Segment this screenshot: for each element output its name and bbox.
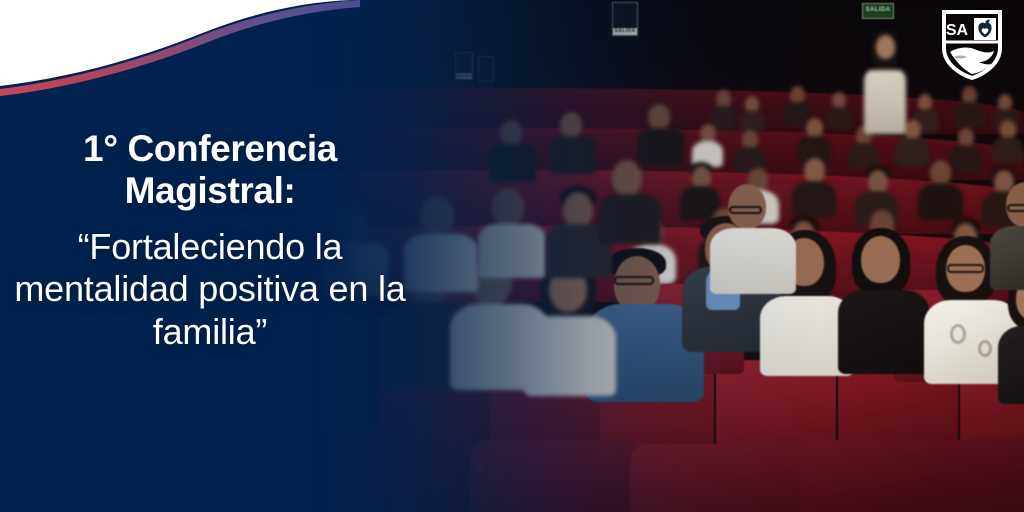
exit-sign: SALIDA: [612, 2, 638, 36]
exit-pictogram: [613, 3, 637, 28]
exit-sign: SALIDA: [862, 3, 894, 19]
sa-shield-logo[interactable]: SA: [936, 8, 1008, 82]
white-swoosh-decoration: [0, 0, 360, 120]
headline-text-block: 1° Conferencia Magistral: “Fortaleciendo…: [0, 128, 420, 353]
conference-banner: A SALIDA SALIDA SALIDA: [0, 0, 1024, 512]
conference-theme-quote: “Fortaleciendo la mentalidad positiva en…: [0, 226, 420, 352]
exit-sign-label: SALIDA: [863, 3, 893, 18]
exit-sign-label: SALIDA: [613, 28, 637, 35]
exit-sign: [478, 56, 494, 82]
exit-pictogram: [456, 53, 472, 73]
exit-pictogram: [479, 57, 493, 81]
exit-sign: SALIDA: [455, 52, 473, 80]
exit-sign-label: SALIDA: [456, 73, 472, 79]
page-title: 1° Conferencia Magistral:: [0, 128, 420, 212]
seat-letter-marker: A: [476, 462, 483, 474]
shield-monogram: SA: [946, 22, 969, 39]
